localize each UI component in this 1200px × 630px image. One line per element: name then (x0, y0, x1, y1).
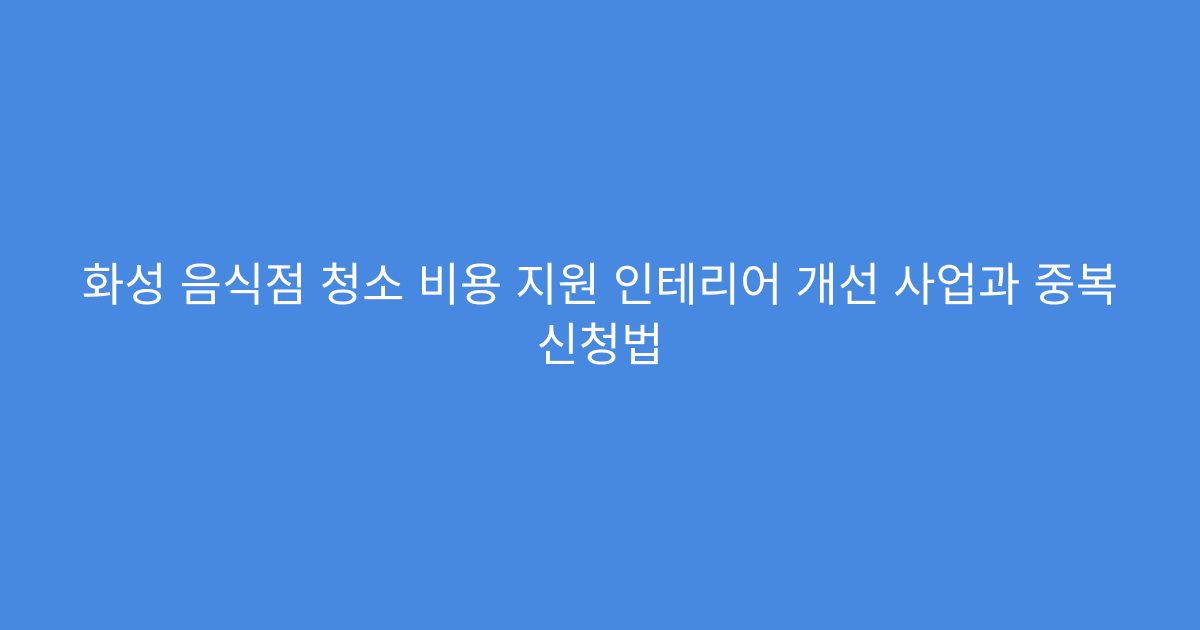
headline-container: 화성 음식점 청소 비용 지원 인테리어 개선 사업과 중복 신청법 (70, 255, 1130, 375)
banner-canvas: 화성 음식점 청소 비용 지원 인테리어 개선 사업과 중복 신청법 (0, 0, 1200, 630)
page-title: 화성 음식점 청소 비용 지원 인테리어 개선 사업과 중복 신청법 (70, 255, 1130, 375)
